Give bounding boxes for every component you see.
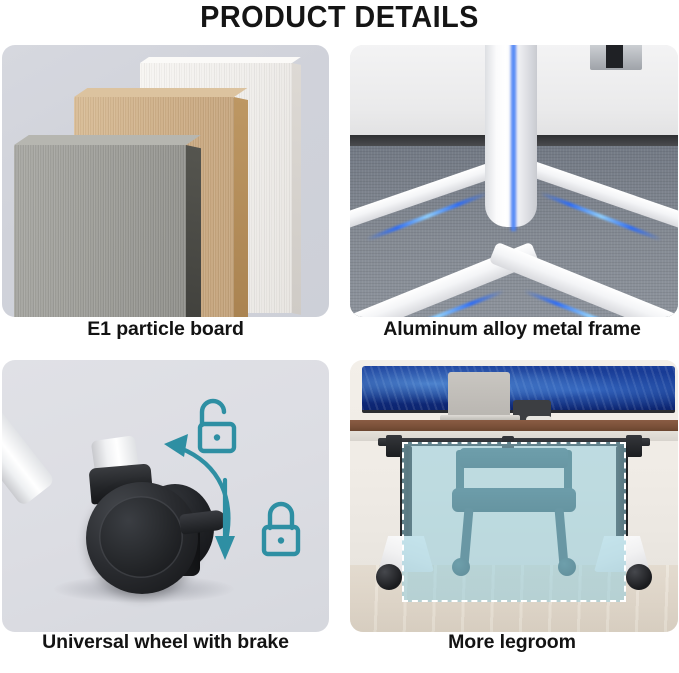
detail-card-metal-frame: Aluminum alloy metal frame bbox=[348, 42, 679, 357]
page-title: PRODUCT DETAILS bbox=[24, 0, 655, 40]
metal-frame-image bbox=[350, 45, 678, 317]
oak-board-edge bbox=[234, 97, 248, 317]
detail-card-universal-wheel: Universal wheel with brake bbox=[0, 357, 331, 672]
gray-board bbox=[14, 145, 186, 317]
gray-board-face bbox=[14, 145, 186, 317]
desk-top-surface bbox=[350, 420, 678, 431]
caption-particle-board: E1 particle board bbox=[0, 318, 331, 341]
gray-board-top bbox=[14, 135, 201, 145]
caption-universal-wheel: Universal wheel with brake bbox=[0, 631, 331, 654]
universal-wheel-image bbox=[2, 360, 329, 632]
column-blue-glow bbox=[510, 45, 517, 231]
wood-grain-texture bbox=[14, 145, 186, 317]
lock-icon bbox=[264, 504, 298, 554]
white-board-edge bbox=[292, 63, 301, 315]
particle-board-image bbox=[2, 45, 329, 317]
desk-bracket-right bbox=[626, 435, 642, 457]
detail-card-legroom: More legroom bbox=[348, 357, 679, 672]
desk-caster-left bbox=[376, 564, 402, 590]
oak-board-top bbox=[74, 88, 247, 97]
gray-board-edge bbox=[186, 145, 201, 317]
unlock-icon bbox=[200, 401, 234, 451]
lock-indicator-group bbox=[2, 360, 329, 632]
legroom-highlight bbox=[402, 442, 626, 602]
unlock-arrow-path bbox=[180, 448, 228, 545]
product-details-page: PRODUCT DETAILS bbox=[0, 0, 679, 673]
detail-card-particle-board: E1 particle board bbox=[0, 42, 331, 357]
laptop bbox=[448, 372, 510, 417]
lock-arrow-head bbox=[215, 536, 235, 560]
details-grid: E1 particle board Aluminum alloy me bbox=[0, 42, 679, 673]
caption-legroom: More legroom bbox=[348, 631, 676, 654]
control-module bbox=[590, 45, 642, 70]
legroom-image bbox=[350, 360, 678, 632]
caption-metal-frame: Aluminum alloy metal frame bbox=[348, 318, 676, 341]
unlock-arrow-head bbox=[164, 434, 188, 457]
desk-caster-right bbox=[626, 564, 652, 590]
